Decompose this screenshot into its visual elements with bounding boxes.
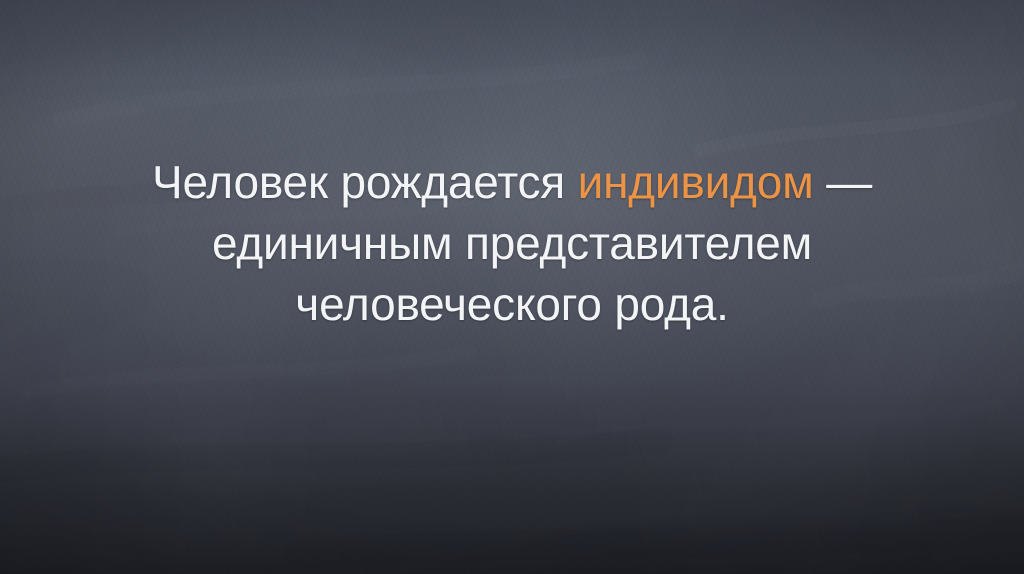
quote-line-1-lead-text: Человек рождается [152,156,578,208]
quote-line-2: единичным представителем [40,213,984,274]
quote-line-1: Человек рождается индивидом — [40,152,984,213]
presentation-slide: Человек рождается индивидом — единичным … [0,0,1024,574]
quote-accent-word-individ: индивидом [578,156,814,208]
quote-em-dash: — [814,156,872,208]
quote-line-3: человеческого рода. [40,274,984,335]
quote-text-block: Человек рождается индивидом — единичным … [0,152,1024,335]
